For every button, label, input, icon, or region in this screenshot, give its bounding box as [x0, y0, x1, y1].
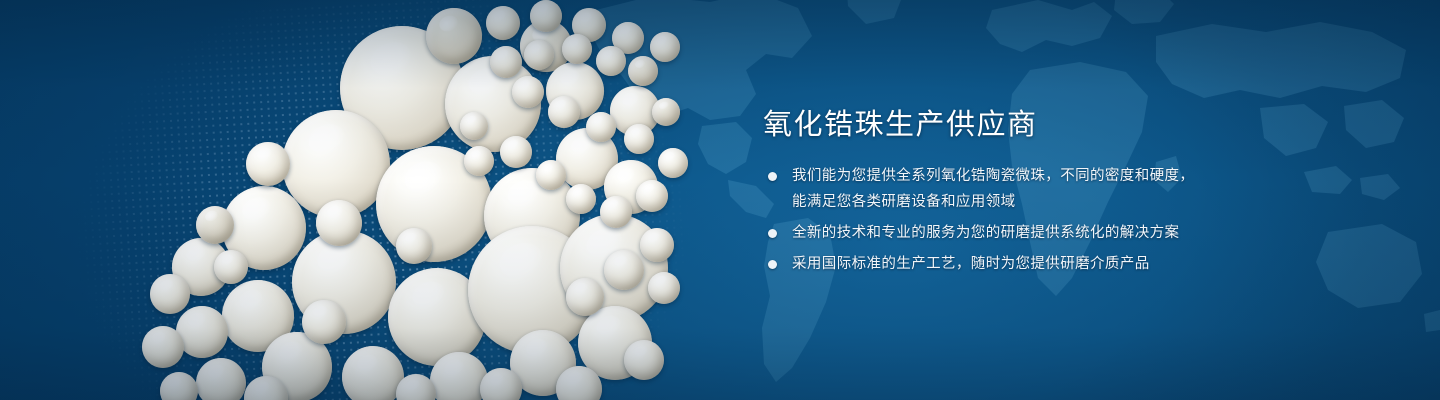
bullet-item-1-line-2: 能满足您各类研磨设备和应用领域: [792, 189, 1363, 215]
bullet-dot-icon: [768, 172, 777, 181]
bullet-item-3-line-1: 采用国际标准的生产工艺，随时为您提供研磨介质产品: [792, 251, 1363, 277]
banner-bullet-list: 我们能为您提供全系列氧化锆陶瓷微珠，不同的密度和硬度， 能满足您各类研磨设备和应…: [763, 163, 1363, 277]
bullet-item-2: 全新的技术和专业的服务为您的研磨提供系统化的解决方案: [763, 220, 1363, 246]
banner-headline: 氧化锆珠生产供应商: [763, 104, 1363, 144]
bullet-dot-icon: [768, 260, 777, 269]
bullet-item-1-line-1: 我们能为您提供全系列氧化锆陶瓷微珠，不同的密度和硬度，: [792, 163, 1363, 189]
bullet-dot-icon: [768, 229, 777, 238]
bullet-item-3: 采用国际标准的生产工艺，随时为您提供研磨介质产品: [763, 251, 1363, 277]
bullet-item-2-line-1: 全新的技术和专业的服务为您的研磨提供系统化的解决方案: [792, 220, 1363, 246]
banner-copy-block: 氧化锆珠生产供应商 我们能为您提供全系列氧化锆陶瓷微珠，不同的密度和硬度， 能满…: [763, 104, 1363, 282]
hero-banner: 氧化锆珠生产供应商 我们能为您提供全系列氧化锆陶瓷微珠，不同的密度和硬度， 能满…: [0, 0, 1440, 400]
bullet-item-1: 我们能为您提供全系列氧化锆陶瓷微珠，不同的密度和硬度， 能满足您各类研磨设备和应…: [763, 163, 1363, 215]
